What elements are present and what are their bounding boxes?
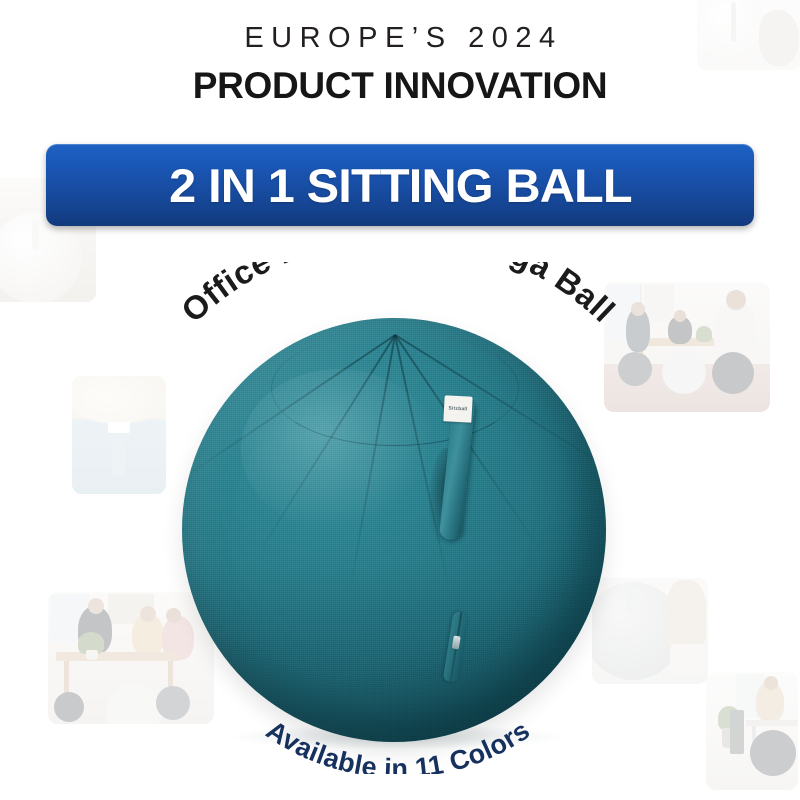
banner-title-text: 2 IN 1 SITTING BALL xyxy=(169,162,632,209)
sitting-ball-product xyxy=(182,318,606,742)
product-title-banner: 2 IN 1 SITTING BALL xyxy=(46,144,754,226)
headline-block: EUROPE’S 2024 PRODUCT INNOVATION xyxy=(0,24,800,104)
thumbnail-bottom-right-home-office xyxy=(706,672,798,790)
product-marketing-image: EUROPE’S 2024 PRODUCT INNOVATION 2 IN 1 … xyxy=(0,0,800,800)
carry-handle: Sitzball xyxy=(440,400,474,540)
brand-tag: Sitzball xyxy=(443,395,472,422)
brand-tag-text: Sitzball xyxy=(448,406,467,413)
thumbnail-left-mid-cream-blue xyxy=(72,376,166,494)
specular-highlight xyxy=(241,369,436,530)
thumbnail-right-upper-office-meeting xyxy=(604,282,770,412)
thumbnail-right-mid-grey-ball xyxy=(592,578,708,684)
subhead-text: PRODUCT INNOVATION xyxy=(0,67,800,104)
kicker-text: EUROPE’S 2024 xyxy=(0,24,800,53)
bottom-shading xyxy=(182,564,606,742)
